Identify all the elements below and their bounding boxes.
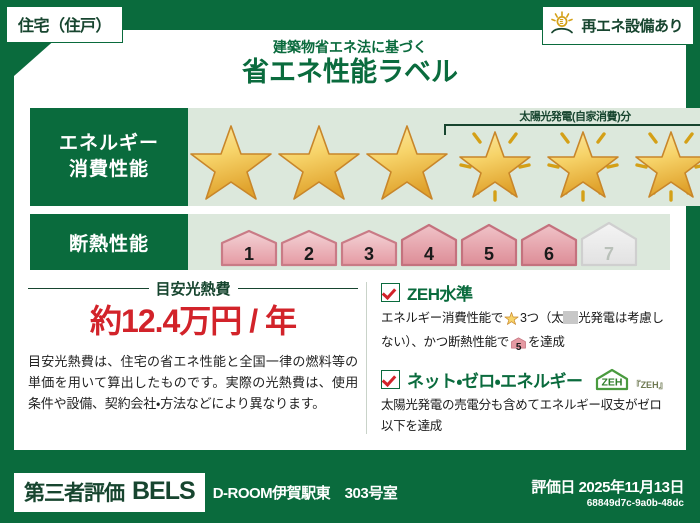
insulation-grade-7-number: 7 <box>580 244 638 265</box>
zeh-body-part1: エネルギー消費性能で <box>381 311 503 325</box>
certificate-id: 68849d7c-9a0b-48dc <box>531 498 684 509</box>
insulation-grade-3: 3 <box>340 229 398 267</box>
insulation-grade-4-number: 4 <box>400 244 458 265</box>
cost-rule-right <box>238 288 359 289</box>
insulation-grade-scale: 1 2 3 <box>220 221 638 270</box>
energy-performance-label: 住宅（住戸） 再エネ設備あり 建築物省エネ法に基づく 省エネ性能ラベル <box>0 0 700 523</box>
net-zero-title-row: ネット・ゼロ・エネルギー ZEH 『ZEH』 <box>381 367 672 392</box>
energy-performance-value: 太陽光発電(自家消費)分 <box>188 108 700 206</box>
solar-contribution-caption: 太陽光発電(自家消費)分 <box>444 111 700 123</box>
label-heading: 建築物省エネ法に基づく 省エネ性能ラベル <box>0 40 700 90</box>
zeh-standard-title: ZEH水準 <box>407 280 473 305</box>
insulation-performance-value: 1 2 3 <box>188 214 670 270</box>
bels-wordmark-text: BELS <box>132 477 195 505</box>
zeh-body-part3: を達成 <box>528 335 565 349</box>
insulation-grade-2: 2 <box>280 229 338 267</box>
solar-bracket <box>444 124 700 135</box>
building-name: D-ROOM伊賀駅東 303号室 <box>213 482 398 503</box>
zeh-body-stars: 3つ（太 <box>520 311 563 325</box>
net-zero-energy-block: ネット・ゼロ・エネルギー ZEH 『ZEH』 太陽光発電の売電分も含めてエネルギ… <box>381 367 672 437</box>
insulation-grade-6: 6 <box>520 223 578 267</box>
vertical-divider <box>366 282 367 434</box>
bels-wordmark: BELS <box>132 479 195 504</box>
star-filled <box>188 118 274 202</box>
net-zero-title: ネット・ゼロ・エネルギー <box>407 367 583 392</box>
zeh-logo-caption: 『ZEH』 <box>632 378 668 392</box>
utility-cost-title: 目安光熱費 <box>156 278 231 299</box>
certification-checks: ZEH水準 エネルギー消費性能で 3つ（太光発電は考慮しない）、かつ断熱性能で … <box>381 278 672 447</box>
insulation-grade-7: 7 <box>580 221 638 267</box>
star-filled <box>364 118 450 202</box>
utility-cost-block: 目安光熱費 約12.4万円 / 年 目安光熱費は、住宅の省エネ性能と全国一律の燃… <box>28 278 358 447</box>
zeh-standard-title-row: ZEH水準 <box>381 280 672 305</box>
renewable-energy-badge: 再エネ設備あり <box>542 6 694 45</box>
third-party-evaluation-text: 第三者評価 <box>24 477 124 507</box>
insulation-grade-1: 1 <box>220 229 278 267</box>
energy-performance-label-key: エネルギー 消費性能 <box>30 108 188 206</box>
evaluation-date-block: 評価日 2025年11月13日 68849d7c-9a0b-48dc <box>531 476 684 509</box>
energy-key-line2: 消費性能 <box>69 157 149 183</box>
insulation-grade-2-number: 2 <box>280 244 338 265</box>
svg-text:ZEH: ZEH <box>601 376 622 388</box>
performance-rows: エネルギー 消費性能 太陽光発電(自家消費)分 <box>30 108 670 278</box>
insulation-performance-label-key: 断熱性能 <box>30 214 188 270</box>
insulation-performance-row: 断熱性能 <box>30 214 670 270</box>
insulation-grade-4: 4 <box>400 223 458 267</box>
zeh-standard-block: ZEH水準 エネルギー消費性能で 3つ（太光発電は考慮しない）、かつ断熱性能で … <box>381 280 672 357</box>
housing-type-chip: 住宅（住戸） <box>6 6 123 43</box>
redacted-character <box>563 311 578 324</box>
utility-cost-value: 約12.4万円 / 年 <box>28 301 358 341</box>
insulation-grade-icon-inline: 5 <box>511 336 526 357</box>
cost-rule-left <box>28 288 149 289</box>
energy-performance-row: エネルギー 消費性能 太陽光発電(自家消費)分 <box>30 108 670 206</box>
net-zero-checkbox[interactable] <box>381 370 400 389</box>
star-filled <box>276 118 362 202</box>
insulation-key-text: 断熱性能 <box>69 229 149 256</box>
net-zero-body: 太陽光発電の売電分も含めてエネルギー収支がゼロ以下を達成 <box>381 395 672 437</box>
zeh-standard-checkbox[interactable] <box>381 283 400 302</box>
utility-cost-description: 目安光熱費は、住宅の省エネ性能と全国一律の燃料等の単価を用いて算出したものです。… <box>28 351 358 414</box>
bels-logo-block: 第三者評価 BELS <box>14 473 205 512</box>
label-footer: 第三者評価 BELS D-ROOM伊賀駅東 303号室 評価日 2025年11月… <box>0 461 700 523</box>
insulation-grade-icon-number: 5 <box>511 340 526 357</box>
star-icon-inline <box>504 311 519 332</box>
label-lower-section: 目安光熱費 約12.4万円 / 年 目安光熱費は、住宅の省エネ性能と全国一律の燃… <box>28 278 672 447</box>
solar-contribution-annotation: 太陽光発電(自家消費)分 <box>444 111 700 135</box>
insulation-grade-6-number: 6 <box>520 244 578 265</box>
zeh-house-logo: ZEH 『ZEH』 <box>594 368 668 392</box>
insulation-grade-1-number: 1 <box>220 244 278 265</box>
insulation-grade-5: 5 <box>460 223 518 267</box>
sun-icon <box>549 11 575 40</box>
energy-key-line1: エネルギー <box>59 131 159 157</box>
renewable-energy-badge-label: 再エネ設備あり <box>581 15 683 36</box>
evaluation-date: 評価日 2025年11月13日 <box>531 476 684 497</box>
heading-title: 省エネ性能ラベル <box>0 56 700 90</box>
insulation-grade-3-number: 3 <box>340 244 398 265</box>
utility-cost-heading: 目安光熱費 <box>28 278 358 299</box>
zeh-standard-body: エネルギー消費性能で 3つ（太光発電は考慮しない）、かつ断熱性能で 5を達成 <box>381 308 672 357</box>
insulation-grade-5-number: 5 <box>460 244 518 265</box>
